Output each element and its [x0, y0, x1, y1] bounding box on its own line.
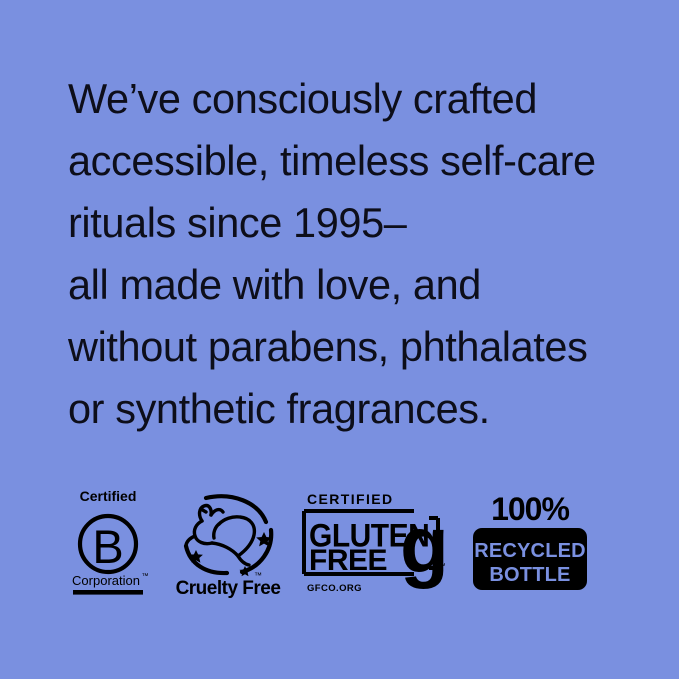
b-corp-bottom-label: Corporation	[72, 573, 140, 588]
recycled-line-2: BOTTLE	[489, 564, 570, 586]
statement-line-3: rituals since 1995–	[68, 192, 664, 254]
b-corp-trademark: ™	[142, 573, 149, 580]
statement-line-6: or synthetic fragrances.	[68, 378, 664, 440]
badge-recycled-bottle: 100% RECYCLED BOTTLE	[470, 488, 590, 598]
brand-values-statement: We’ve consciously crafted accessible, ti…	[68, 68, 664, 440]
b-corp-certification-icon: Certified B Corporation ™	[62, 488, 154, 598]
certification-badge-row: Certified B Corporation ™	[0, 488, 679, 600]
statement-line-2: accessible, timeless self-care	[68, 130, 664, 192]
badge-b-corp: Certified B Corporation ™	[62, 488, 154, 598]
leaping-bunny-cruelty-free-icon: ™ Cruelty Free	[172, 488, 284, 598]
gluten-free-trademark: ™	[439, 563, 446, 570]
b-corp-underline-bar	[73, 590, 143, 595]
statement-line-4: all made with love, and	[68, 254, 664, 316]
recycled-line-1: RECYCLED	[474, 540, 586, 562]
recycled-bottle-icon: 100% RECYCLED BOTTLE	[470, 488, 590, 598]
brand-statement-panel: We’ve consciously crafted accessible, ti…	[0, 0, 679, 679]
statement-line-5: without parabens, phthalates	[68, 316, 664, 378]
badge-cruelty-free: ™ Cruelty Free	[172, 488, 284, 598]
statement-line-1: We’ve consciously crafted	[68, 68, 664, 130]
recycled-percent-label: 100%	[491, 491, 569, 527]
gluten-free-url-label: GFCO.ORG	[307, 583, 362, 594]
cruelty-free-label: Cruelty Free	[176, 578, 281, 598]
badge-gluten-free: CERTIFIED GLUTEN FREE g ™ GFCO.ORG	[298, 488, 448, 598]
b-corp-letter: B	[92, 520, 123, 573]
gluten-free-g-mark: g	[400, 500, 448, 589]
certified-gluten-free-icon: CERTIFIED GLUTEN FREE g ™ GFCO.ORG	[298, 488, 448, 598]
b-corp-top-label: Certified	[80, 488, 137, 504]
gluten-free-top-label: CERTIFIED	[307, 491, 394, 507]
gluten-free-line-2: FREE	[309, 544, 387, 577]
